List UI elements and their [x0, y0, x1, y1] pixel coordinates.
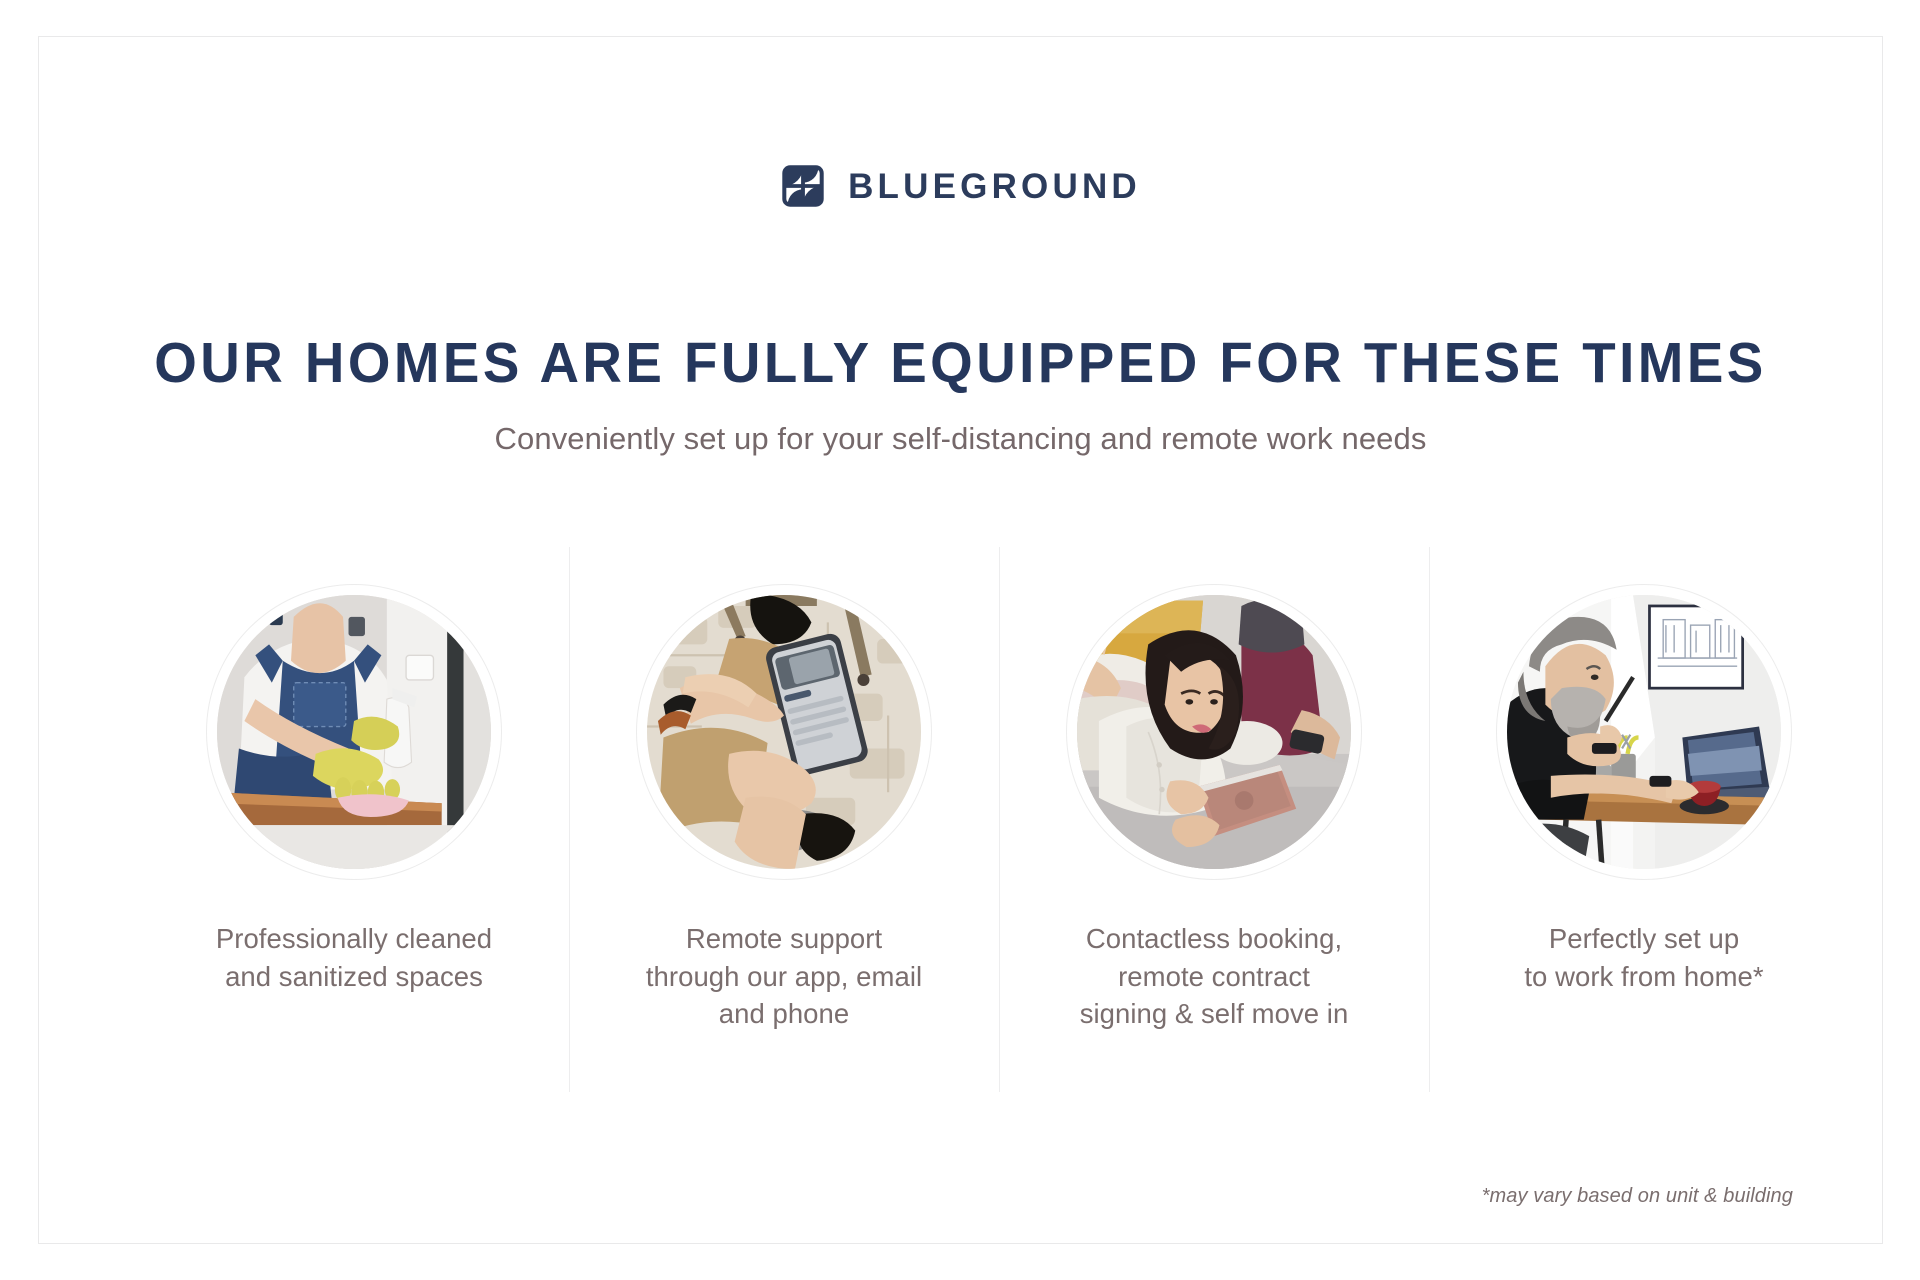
man-working-from-home-photo	[1496, 584, 1792, 880]
woman-with-tablet-photo	[1066, 584, 1362, 880]
feature-column-work-from-home: Perfectly set up to work from home*	[1429, 547, 1859, 995]
page-subtitle: Conveniently set up for your self-distan…	[39, 420, 1882, 457]
brand-lockup: BLUEGROUND	[39, 163, 1882, 209]
cleaning-person-photo	[206, 584, 502, 880]
feature-column-contactless-booking: Contactless booking, remote contract sig…	[999, 547, 1429, 1033]
feature-columns: Professionally cleaned and sanitized spa…	[139, 547, 1859, 1095]
blueground-square-mark-icon	[780, 163, 826, 209]
poster-canvas: BLUEGROUND OUR HOMES ARE FULLY EQUIPPED …	[0, 0, 1920, 1280]
footnote-disclaimer: *may vary based on unit & building	[1482, 1185, 1793, 1208]
feature-caption: Contactless booking, remote contract sig…	[1080, 920, 1349, 1033]
smartphone-in-hands-photo	[636, 584, 932, 880]
feature-column-remote-support: Remote support through our app, email an…	[569, 547, 999, 1033]
page-title: OUR HOMES ARE FULLY EQUIPPED FOR THESE T…	[76, 333, 1845, 393]
card-frame: BLUEGROUND OUR HOMES ARE FULLY EQUIPPED …	[38, 36, 1883, 1244]
feature-caption: Remote support through our app, email an…	[646, 920, 922, 1033]
feature-column-cleaning: Professionally cleaned and sanitized spa…	[139, 547, 569, 995]
feature-caption: Professionally cleaned and sanitized spa…	[216, 920, 492, 995]
feature-caption: Perfectly set up to work from home*	[1524, 920, 1763, 995]
brand-wordmark: BLUEGROUND	[848, 169, 1141, 204]
